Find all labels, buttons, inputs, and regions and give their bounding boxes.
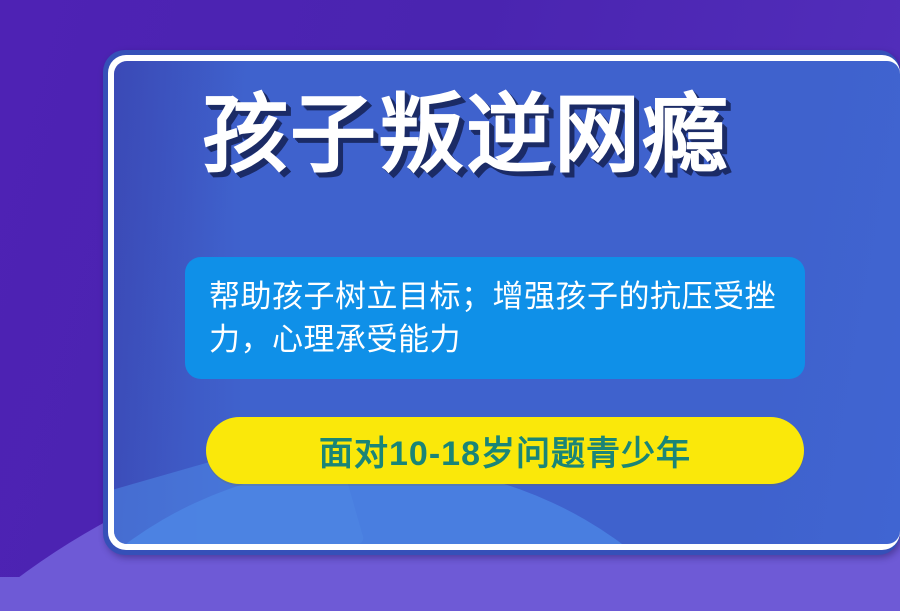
subtitle-panel: 帮助孩子树立目标；增强孩子的抗压受挫力，心理承受能力 <box>185 257 805 379</box>
page-title: 孩子叛逆网瘾 <box>114 89 818 182</box>
promo-banner: 孩子叛逆网瘾 帮助孩子树立目标；增强孩子的抗压受挫力，心理承受能力 面对10-1… <box>0 0 900 611</box>
audience-badge-label: 面对10-18岁问题青少年 <box>319 426 691 475</box>
subtitle-text: 帮助孩子树立目标；增强孩子的抗压受挫力，心理承受能力 <box>209 276 781 362</box>
background-bottom-band <box>0 577 900 611</box>
card-content: 孩子叛逆网瘾 帮助孩子树立目标；增强孩子的抗压受挫力，心理承受能力 面对10-1… <box>114 61 900 544</box>
audience-badge: 面对10-18岁问题青少年 <box>206 417 804 484</box>
promo-card: 孩子叛逆网瘾 帮助孩子树立目标；增强孩子的抗压受挫力，心理承受能力 面对10-1… <box>114 61 900 544</box>
